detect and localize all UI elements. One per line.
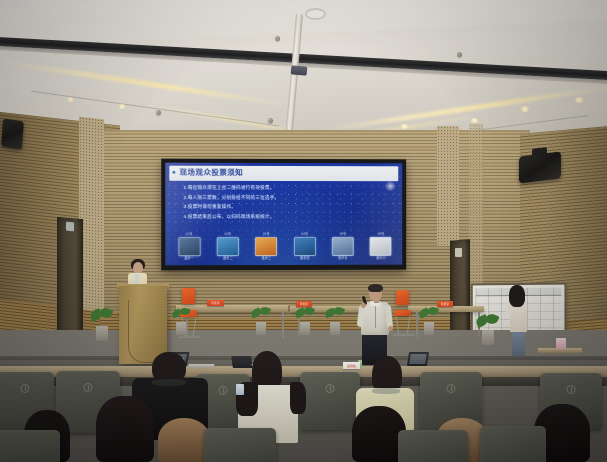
contestant-number: 05号 [331, 233, 354, 237]
plant-pot [176, 322, 186, 335]
downlight [400, 124, 409, 129]
contestant-card: 04号 选手四 [293, 233, 316, 261]
contestant-name: 选手五 [331, 257, 354, 261]
judge-nameplate-text: 评委席 [207, 300, 224, 306]
contestant-name: 选手四 [293, 257, 316, 261]
contestant-photo [217, 238, 239, 257]
contestant-card: 02号 选手二 [216, 233, 239, 261]
projector-mount-ring [305, 8, 326, 20]
whiteboard-writer-legs [512, 330, 525, 356]
seat-logo-icon [21, 384, 30, 393]
contestant-card: 05号 选手五 [331, 233, 354, 261]
judge-nameplate: 评委席 [207, 300, 224, 306]
acoustic-perforated-column [437, 126, 459, 246]
sprinkler-icon [268, 118, 273, 123]
seat-logo-icon [326, 384, 335, 393]
contestant-number: 01号 [177, 233, 200, 237]
judge-nameplate-text: 评委席 [437, 301, 453, 307]
table-leg [416, 312, 418, 337]
whiteboard-writer-hair [509, 285, 525, 307]
judge-nameplate: 评委席 [437, 301, 453, 307]
downlight [118, 104, 126, 109]
contestant-number: 02号 [216, 233, 239, 237]
lectern-cable [128, 300, 159, 363]
contestant-photo [178, 238, 200, 257]
plant-pot [96, 326, 108, 341]
audience-member-head [158, 418, 210, 462]
presenter-hand-left [361, 303, 366, 308]
contestant-card: 03号 选手三 [255, 233, 278, 261]
audience-member-hair-side [290, 382, 306, 414]
presenter-hand-right [388, 326, 393, 331]
contestant-number: 04号 [293, 233, 316, 237]
audience-seat[interactable] [480, 426, 546, 462]
title-bullet-icon [172, 171, 175, 174]
host-lanyard [135, 274, 139, 284]
slide-bullet: 1.每位观众须在上台二维码进行有效投票。 [183, 185, 386, 191]
conference-hall-photo: 现场观众投票须知 1.每位观众须在上台二维码进行有效投票。 2.每人限三票数，分… [0, 0, 607, 462]
contestant-number: 03号 [255, 233, 278, 237]
chair-base [392, 334, 414, 336]
slide-bullet: 2.每人限三票数，分别投给不同的三位选手。 [183, 195, 386, 200]
desk-name-card-text: 签到处 [343, 362, 360, 369]
contestant-photo [332, 237, 354, 256]
laptop-screen [409, 354, 427, 364]
presenter-glasses [370, 291, 381, 295]
door-sign [66, 222, 74, 232]
seat-logo-icon [84, 383, 93, 392]
slide-bullet: 4.投票结束后公布，以扫码现场系统统计。 [183, 214, 386, 219]
decor-box [556, 338, 566, 349]
downlight [520, 106, 530, 112]
plant-pot [330, 322, 340, 335]
desk-name-card: 签到处 [343, 362, 360, 369]
mobile-phone[interactable] [236, 384, 244, 395]
plant-pot [256, 322, 266, 335]
audience-member-collar [372, 388, 400, 394]
contestant-photo [294, 237, 316, 256]
audience-member-head [96, 396, 154, 462]
slide-title: 现场观众投票须知 [179, 167, 243, 178]
plant-pot [300, 322, 310, 335]
screen-surface: 现场观众投票须知 1.每位观众须在上台二维码进行有效投票。 2.每人限三票数，分… [165, 163, 402, 266]
stage-chair[interactable] [396, 290, 409, 305]
contestant-name: 选手一 [177, 258, 200, 262]
contestant-card: 06号 选手六 [370, 233, 393, 261]
contestant-photo [370, 237, 392, 256]
seat-logo-icon [447, 384, 456, 393]
downlight [470, 118, 479, 123]
contestant-card-row: 01号 选手一 02号 选手二 03号 选手三 [177, 231, 392, 261]
wall-speaker-right [519, 151, 561, 183]
audience-seat[interactable] [300, 372, 360, 430]
audience-seat[interactable] [0, 430, 60, 462]
audience-seat[interactable] [398, 430, 468, 462]
downlight [574, 97, 584, 103]
contestant-number: 06号 [370, 233, 393, 237]
table-leg [282, 312, 284, 338]
contestant-name: 选手二 [216, 258, 239, 262]
slide-bullet: 3.投票时请勿重复操作。 [183, 204, 386, 209]
plant-pot [482, 330, 494, 345]
sprinkler-icon [457, 52, 462, 57]
contestant-photo [255, 237, 277, 256]
plant-pot [424, 322, 434, 335]
slide-bullet-list: 1.每位观众须在上台二维码进行有效投票。 2.每人限三票数，分别投给不同的三位选… [183, 185, 386, 231]
chair-base [178, 336, 200, 338]
projector-pole-collar [291, 65, 308, 75]
contestant-name: 选手六 [370, 257, 393, 261]
seat-logo-icon [567, 385, 576, 394]
audience-seat[interactable] [204, 428, 276, 462]
laptop-lid [231, 356, 253, 368]
presenter-shirt-placket [375, 304, 376, 328]
contestant-name: 选手三 [255, 257, 278, 261]
stage-chair[interactable] [182, 288, 195, 304]
laptop-base [187, 364, 214, 368]
contestant-card: 01号 选手一 [177, 233, 200, 261]
light-switch[interactable] [455, 248, 462, 257]
audience-member-collar [152, 379, 186, 386]
wall-speaker-left [1, 118, 24, 149]
seat-logo-icon [219, 386, 228, 395]
sprinkler-icon [275, 36, 280, 41]
projection-screen: 现场观众投票须知 1.每位观众须在上台二维码进行有效投票。 2.每人限三票数，分… [161, 159, 406, 271]
downlight [66, 97, 75, 102]
presentation-slide: 现场观众投票须知 1.每位观众须在上台二维码进行有效投票。 2.每人限三票数，分… [165, 163, 402, 266]
sprinkler-icon [156, 110, 161, 115]
